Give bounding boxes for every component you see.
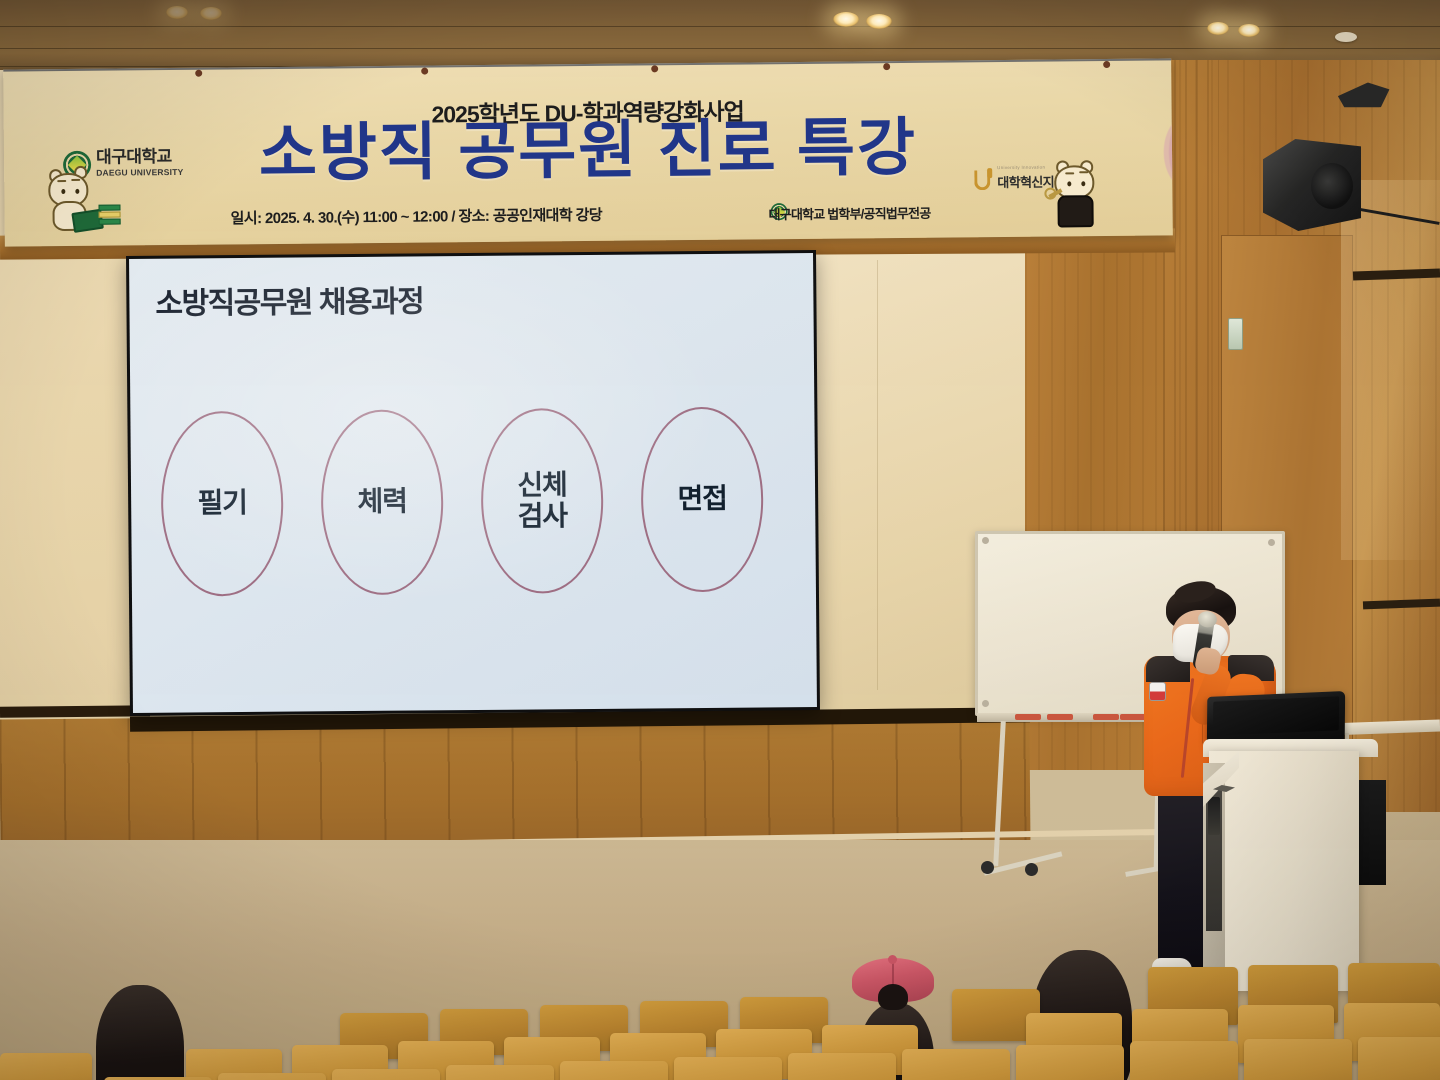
process-step-written-exam: 필기 [160,410,284,596]
whiteboard-leg [993,721,1006,866]
audience-seating [0,955,1440,1080]
ceiling-light-icon [833,12,859,27]
auditorium-seat[interactable] [218,1073,326,1080]
auditorium-seat[interactable] [0,1053,92,1080]
ceiling-light-icon [1207,22,1229,35]
auditorium-seat[interactable] [560,1061,668,1080]
process-step-physical-fitness: 체력 [320,409,444,595]
ceiling-light-icon [866,14,892,29]
wall-gap-shadow [0,705,150,718]
tiger-judge-mascot-icon [1050,157,1121,230]
ceiling-light-icon [1238,24,1260,37]
banner-title: 소방직 공무원 진로 특강 [4,114,1173,188]
podium-control-panel[interactable] [1208,797,1220,835]
attendee-head [96,985,184,1080]
wall-speaker-icon [1263,139,1361,231]
process-step-label: 면접 [677,483,726,515]
whiteboard-marker-icon[interactable] [1015,714,1041,720]
process-step-label: 필기 [197,487,246,519]
whiteboard-caster-icon [981,861,994,874]
process-step-medical-exam: 신체검사 [480,407,604,593]
lectern-podium[interactable] [1203,739,1378,989]
auditorium-seat[interactable] [1016,1045,1124,1080]
tiger-with-books-mascot-icon [46,164,125,235]
lecture-hall-photo: 대구대학교 DAEGU UNIVERSITY University Innova… [0,0,1440,1080]
ceiling-light-icon [200,7,222,20]
auditorium-seat[interactable] [446,1065,554,1080]
event-banner: 대구대학교 DAEGU UNIVERSITY University Innova… [3,58,1173,246]
projection-screen: 소방직공무원 채용과정 필기 체력 신체검사 면접 [126,250,820,716]
auditorium-seat[interactable] [332,1069,440,1080]
auditorium-seat[interactable] [1130,1041,1238,1080]
exit-sign-icon [1228,318,1243,350]
auditorium-seat[interactable] [1358,1037,1440,1080]
banner-department: 대구대학교 법학부/공직법무전공 [769,203,931,224]
auditorium-seat[interactable] [1244,1039,1352,1080]
process-step-label: 신체검사 [517,469,567,532]
ceiling-light-icon [166,6,188,19]
pink-baseball-cap-icon [852,958,934,1010]
whiteboard-marker-icon[interactable] [1047,714,1073,720]
auditorium-seat[interactable] [902,1049,1010,1080]
recruitment-process-diagram: 필기 체력 신체검사 면접 [160,403,802,599]
auditorium-seat[interactable] [674,1057,782,1080]
process-step-interview: 면접 [640,406,764,592]
slide-title: 소방직공무원 채용과정 [155,276,423,322]
banner-event-info: 일시: 2025. 4. 30.(수) 11:00 ~ 12:00 / 장소: … [231,202,791,228]
whiteboard-marker-icon[interactable] [1093,714,1119,720]
presenter-flag-patch-icon [1149,682,1166,701]
whiteboard-caster-icon [1025,863,1038,876]
ceiling-sensor-icon [1335,32,1357,42]
presentation-slide: 소방직공무원 채용과정 필기 체력 신체검사 면접 [129,253,817,713]
auditorium-seat[interactable] [788,1053,896,1080]
process-step-label: 체력 [357,486,406,518]
